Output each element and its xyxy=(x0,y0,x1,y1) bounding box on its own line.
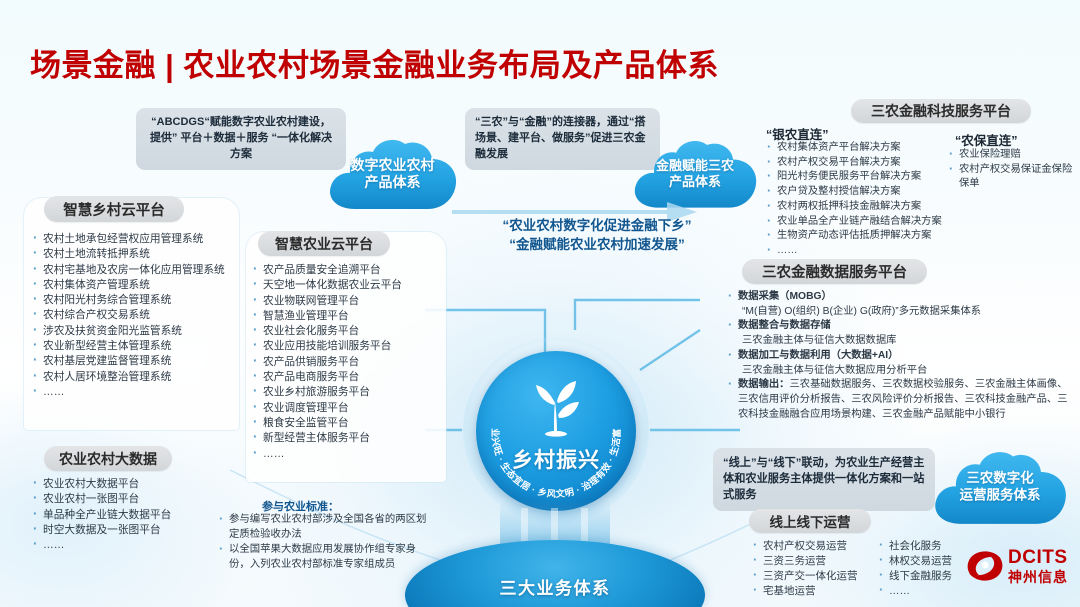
list-item: 单品种全产业链大数据平台 xyxy=(32,508,238,523)
list-item: …… xyxy=(252,447,442,462)
logo-sub-text: 神州信息 xyxy=(1008,567,1068,587)
list-item: 农村集体资产管理系统 xyxy=(32,278,238,293)
logo-main-text: DCITS xyxy=(1008,547,1068,569)
header-bigdata: 农业农村大数据 xyxy=(44,446,172,471)
list-item: 数据加工与数据利用（大数据+AI） 三农金融主体与征信大数据应用分析平台 xyxy=(727,349,1075,378)
list-smart-agri: 农产品质量安全追溯平台 天空地一体化数据农业云平台 农业物联网管理平台 智慧渔业… xyxy=(252,263,442,462)
cloud-digital-ops-line1: 三农数字化 xyxy=(930,470,1070,487)
list-item: …… xyxy=(766,244,981,259)
dcits-logo: DCITS 神州信息 xyxy=(963,545,1073,589)
list-item: 粮食安全监管平台 xyxy=(252,416,442,431)
list-item: 三资产交一体化运营 xyxy=(752,569,882,584)
list-item: 三资三务运营 xyxy=(752,554,882,569)
list-item: 农业物联网管理平台 xyxy=(252,294,442,309)
list-item: 农产品质量安全追溯平台 xyxy=(252,263,442,278)
list-bigdata: 农业农村大数据平台 农业农村一张图平台 单品种全产业链大数据平台 时空大数据及一… xyxy=(32,477,238,553)
list-item: 农业单品全产业链产融结合解决方案 xyxy=(766,215,981,230)
page-title: 场景金融 | 农业农村场景金融业务布局及产品体系 xyxy=(30,40,719,85)
list-standards: 参与编写农业农村部涉及全国各省的两区划定质检验收办法 以全国苹果大数据应用发展协… xyxy=(218,513,433,573)
findata-sub-0: “M(自营) O(组织) B(企业) G(政府)”多元数据采集体系 xyxy=(738,305,1075,320)
center-badge[interactable]: 乡村振兴 产业兴旺 · 生态宜居 · 乡风文明 · 治理有效 · 生活富裕 xyxy=(463,338,649,524)
findata-sub-1: 三农金融主体与征信大数据数据库 xyxy=(738,334,1075,349)
callout-online-offline: “线上”与“线下”联动，为农业生产经营主体和农业服务主体提供一体化方案和一站式服… xyxy=(713,448,935,511)
list-item: 天空地一体化数据农业云平台 xyxy=(252,278,442,293)
arc-text-label: 产业兴旺 · 生态宜居 · 乡风文明 · 治理有效 · 生活富裕 xyxy=(476,351,622,499)
list-item: 农村阳光村务综合管理系统 xyxy=(32,293,238,308)
list-item: 农业调度管理平台 xyxy=(252,401,442,416)
list-fintech-right: 农业保险理赔 农村产权交易保证金保险保单 xyxy=(948,148,1073,192)
list-item: 新型经营主体服务平台 xyxy=(252,431,442,446)
list-item: 参与编写农业农村部涉及全国各省的两区划定质检验收办法 xyxy=(218,513,433,543)
center-slogan: “农业农村数字化促进金融下乡” “金融赋能农业农村加速发展” xyxy=(452,217,742,255)
list-item: 时空大数据及一张图平台 xyxy=(32,523,238,538)
list-item: 农村土地承包经营权应用管理系统 xyxy=(32,232,238,247)
svg-text:产业兴旺 · 生态宜居 · 乡风文明 · 治理有效 · 生活: 产业兴旺 · 生态宜居 · 乡风文明 · 治理有效 · 生活富裕 xyxy=(476,351,622,499)
list-item: 数据采集（MOBG） “M(自营) O(组织) B(企业) G(政府)”多元数据… xyxy=(727,290,1075,319)
list-item: 农业应用技能培训服务平台 xyxy=(252,339,442,354)
list-item: …… xyxy=(32,538,238,553)
findata-bold-3: 数据输出： xyxy=(738,379,789,390)
header-standards: 参与农业标准： xyxy=(262,498,442,514)
findata-bold-1: 数据整合与数据存储 xyxy=(738,320,831,331)
center-slogan-line2: “金融赋能农业农村加速发展” xyxy=(452,236,742,255)
dcits-swirl-logo-icon xyxy=(963,545,1007,585)
center-arc-text: 产业兴旺 · 生态宜居 · 乡风文明 · 治理有效 · 生活富裕 xyxy=(476,351,636,511)
cloud-digital-ops[interactable]: 三农数字化 运营服务体系 xyxy=(930,443,1070,529)
list-item: 农产品电商服务平台 xyxy=(252,370,442,385)
list-item: 农村两权抵押科技金融解决方案 xyxy=(766,200,981,215)
list-item: 涉农及扶贫资金阳光监管系统 xyxy=(32,324,238,339)
list-item: 农业乡村旅游服务平台 xyxy=(252,385,442,400)
header-smart-agri: 智慧农业云平台 xyxy=(258,231,390,256)
list-item: 数据输出：三农基础数据服务、三农数据校验服务、三农金融主体画像、三农信用评价分析… xyxy=(727,378,1075,422)
header-fintech: 三农金融科技服务平台 xyxy=(851,99,1031,123)
findata-bold-2: 数据加工与数据利用（大数据+AI） xyxy=(738,350,898,361)
cloud-digital-ops-line2: 运营服务体系 xyxy=(930,487,1070,504)
callout-digital-agri: “ABCDGS“赋能数字农业农村建设，提供” 平台＋数据＋服务 “一体化解决方案 xyxy=(136,108,346,170)
list-ops-left: 农村产权交易运营 三资三务运营 三资产交一体化运营 宅基地运营 xyxy=(752,539,882,599)
list-item: 宅基地运营 xyxy=(752,584,882,599)
list-item: 数据整合与数据存储 三农金融主体与征信大数据数据库 xyxy=(727,319,1075,348)
center-slogan-line1: “农业农村数字化促进金融下乡” xyxy=(452,217,742,236)
header-ops: 线上线下运营 xyxy=(749,509,871,533)
list-item: 智慧渔业管理平台 xyxy=(252,309,442,324)
findata-sub-2: 三农金融主体与征信大数据应用分析平台 xyxy=(738,364,1075,379)
list-item: …… xyxy=(32,385,238,400)
list-item: 农产品供销服务平台 xyxy=(252,355,442,370)
list-item: 农业社会化服务平台 xyxy=(252,324,442,339)
list-item: 农村产权交易保证金保险保单 xyxy=(948,163,1073,192)
base-label: 三大业务体系 xyxy=(405,574,705,599)
header-findata: 三农金融数据服务平台 xyxy=(742,259,927,284)
list-item: 农业新型经营主体管理系统 xyxy=(32,339,238,354)
cloud-digital-agri[interactable]: 数字农业农村 产品体系 xyxy=(325,131,460,214)
findata-bold-0: 数据采集（MOBG） xyxy=(738,291,832,302)
cloud-digital-agri-line2: 产品体系 xyxy=(325,174,460,192)
list-item: 农业农村一张图平台 xyxy=(32,492,238,507)
list-item: 农村土地流转抵押系统 xyxy=(32,247,238,262)
list-item: 农村人居环境整治管理系统 xyxy=(32,370,238,385)
list-item: 农村宅基地及农房一体化应用管理系统 xyxy=(32,263,238,278)
list-findata: 数据采集（MOBG） “M(自营) O(组织) B(企业) G(政府)”多元数据… xyxy=(727,290,1075,422)
header-smart-village: 智慧乡村云平台 xyxy=(44,196,184,222)
list-item: 农业农村大数据平台 xyxy=(32,477,238,492)
cloud-finance-empower-line1: 金融赋能三农 xyxy=(630,158,760,174)
list-item: 农村产权交易运营 xyxy=(752,539,882,554)
list-item: 农业保险理赔 xyxy=(948,148,1073,163)
list-item: 以全国苹果大数据应用发展协作组专家身份，入列农业农村部标准专家组成员 xyxy=(218,543,433,573)
cloud-finance-empower-line2: 产品体系 xyxy=(630,174,760,190)
list-item: 农村基层党建监督管理系统 xyxy=(32,354,238,369)
list-item: 生物资产动态评估抵质押解决方案 xyxy=(766,229,981,244)
fintech-col-right-title: “农保直连” xyxy=(955,130,1075,149)
list-smart-village: 农村土地承包经营权应用管理系统 农村土地流转抵押系统 农村宅基地及农房一体化应用… xyxy=(32,232,238,400)
list-item: 农村综合产权交易系统 xyxy=(32,308,238,323)
cloud-digital-agri-line1: 数字农业农村 xyxy=(325,156,460,174)
infographic-canvas: 场景金融 | 农业农村场景金融业务布局及产品体系 “ABCDGS“赋能数字农业农… xyxy=(0,0,1080,607)
